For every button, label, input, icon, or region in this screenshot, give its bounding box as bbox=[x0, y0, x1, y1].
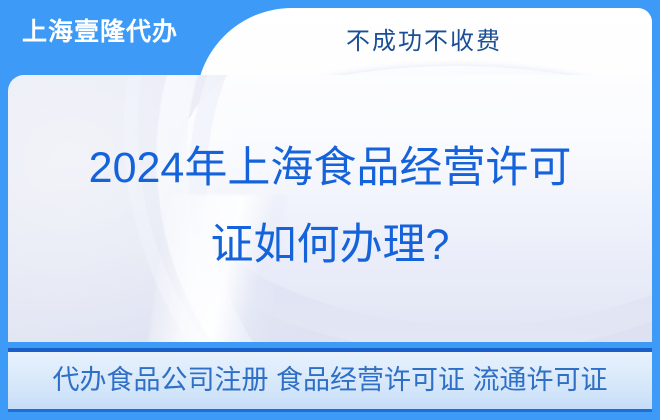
headline: 2024年上海食品经营许可 证如何办理? bbox=[8, 75, 652, 343]
frame-right-edge bbox=[652, 0, 660, 420]
keyword-bar: 代办食品公司注册 食品经营许可证 流通许可证 bbox=[8, 348, 652, 412]
promo-poster: 不成功不收费 上海壹隆代办 2024年上海食品经营许可 证如何办理? 代办食品公… bbox=[0, 0, 660, 420]
keyword-list: 代办食品公司注册 食品经营许可证 流通许可证 bbox=[52, 367, 607, 394]
frame-top-edge bbox=[0, 0, 660, 8]
slogan-text: 不成功不收费 bbox=[196, 30, 652, 54]
headline-line-2: 证如何办理? bbox=[211, 224, 450, 267]
frame-left-edge bbox=[0, 0, 8, 420]
frame-bottom-edge bbox=[0, 412, 660, 420]
brand-name: 上海壹隆代办 bbox=[22, 20, 178, 45]
headline-line-1: 2024年上海食品经营许可 bbox=[89, 147, 572, 190]
